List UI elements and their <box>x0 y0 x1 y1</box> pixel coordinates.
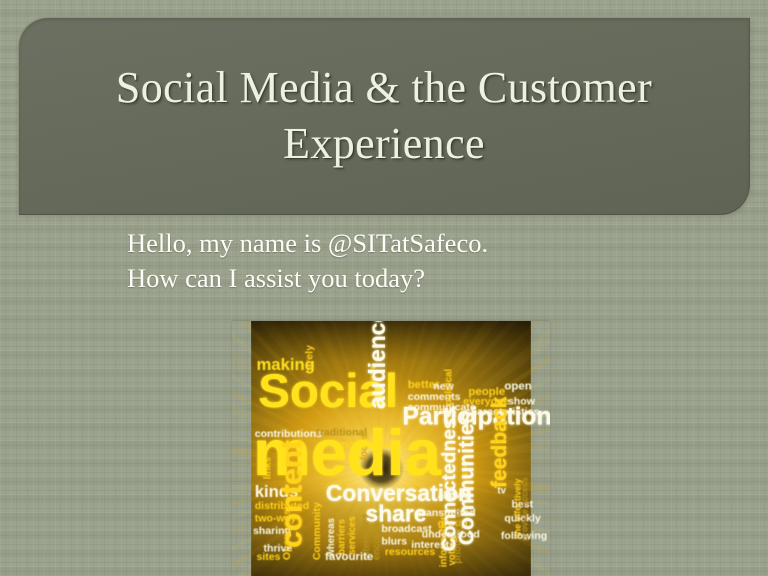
presentation-slide: Social Media & the Customer Experience H… <box>0 0 768 576</box>
word-cloud-word: provide access <box>519 477 529 541</box>
page-title: Social Media & the Customer Experience <box>59 60 709 173</box>
slide-title-placeholder[interactable]: Social Media & the Customer Experience <box>18 17 750 215</box>
word-cloud-word: content <box>275 440 308 548</box>
word-cloud-word: feedback <box>488 396 511 488</box>
word-cloud-word: open <box>504 381 531 393</box>
word-cloud-word: Connectedness <box>438 407 460 551</box>
word-cloud-word: services <box>347 516 358 555</box>
body-line-2: How can I assist you today? <box>127 261 687 296</box>
slide-body-text[interactable]: Hello, my name is @SITatSafeco. How can … <box>127 226 687 296</box>
word-cloud-word: political <box>444 369 455 406</box>
word-cloud-word: share <box>366 500 427 526</box>
word-cloud-word: Community <box>311 502 323 560</box>
word-cloud-word: audience <box>364 321 390 409</box>
body-line-1: Hello, my name is @SITatSafeco. <box>127 226 687 261</box>
social-media-word-cloud-image[interactable]: makingrarelylovecontributionstraditional… <box>232 321 550 576</box>
word-cloud-word: favourite <box>325 551 373 563</box>
word-cloud-canvas: makingrarelylovecontributionstraditional… <box>232 321 550 576</box>
word-cloud-word: barriers <box>336 519 347 555</box>
word-cloud-word: sites <box>256 551 280 563</box>
